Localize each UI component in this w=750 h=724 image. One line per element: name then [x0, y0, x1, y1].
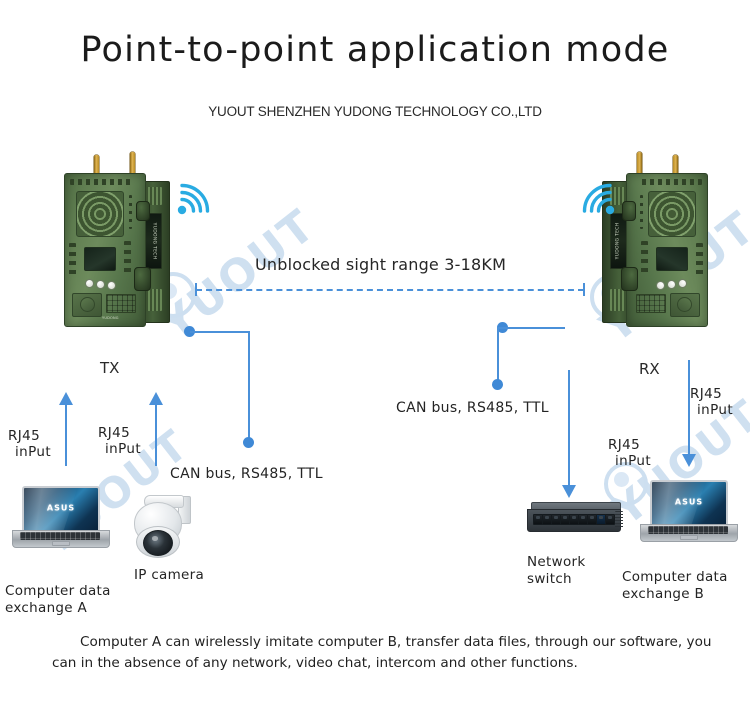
tx-bus-horizontal	[190, 331, 250, 333]
laptop-a-touchpad	[52, 541, 70, 546]
tx-button-1[interactable]	[85, 279, 94, 288]
company-subtitle: YUOUT SHENZHEN YUDONG TECHNOLOGY CO.,LTD	[0, 104, 750, 119]
laptop-a-caption-line1: Computer data	[5, 583, 111, 600]
rx-speaker-grille	[648, 191, 696, 237]
tx-label: TX	[100, 359, 119, 377]
switch-port-9[interactable]	[605, 514, 615, 525]
rj45-switch-line	[568, 370, 570, 486]
page-title: Point-to-point application mode	[0, 30, 750, 70]
rx-right-slots	[641, 241, 648, 277]
tx-lcd-display	[84, 247, 116, 271]
rj45-laptop-label-line1: RJ45	[690, 386, 722, 402]
rx-bus-end-dot	[492, 379, 503, 390]
rx-led-column	[640, 195, 643, 229]
rx-button-2[interactable]	[667, 280, 676, 289]
rx-connector-knob-2	[621, 267, 638, 291]
laptop-a-caption: Computer data exchange A	[5, 583, 111, 617]
tx-button-3[interactable]	[107, 281, 116, 290]
laptop-b[interactable]: ASUS	[640, 480, 736, 542]
switch-vent	[615, 511, 623, 529]
rx-brand-text: YUDONG TECH	[616, 223, 621, 260]
diagram-canvas: Point-to-point application mode YUOUT SH…	[0, 0, 750, 724]
laptop-a-screen: ASUS	[22, 486, 100, 534]
rx-side-fins-bottom	[610, 289, 626, 311]
laptop-b-touchpad	[680, 535, 698, 540]
rj45-a-label: RJ45 inPut	[8, 428, 51, 461]
range-cap-left	[195, 283, 197, 296]
rj45-laptop-arrowhead	[682, 454, 696, 467]
rx-button-3[interactable]	[656, 281, 665, 290]
rx-bus-vertical	[497, 327, 499, 383]
rj45-b-arrowhead	[149, 392, 163, 405]
tx-right-slots	[124, 241, 131, 277]
rj45-b-label: RJ45 inPut	[98, 425, 141, 458]
tx-speaker-grille	[76, 191, 124, 237]
rj45-laptop-label-line2: inPut	[690, 402, 733, 418]
tx-bus-label: CAN bus, RS485, TTL	[170, 466, 323, 482]
rx-radio-device[interactable]: YUDONG TECH	[592, 155, 710, 333]
rj45-switch-label-line1: RJ45	[608, 437, 640, 453]
tx-led-column	[129, 195, 132, 229]
rx-power-badge	[677, 297, 692, 312]
camera-lens	[143, 530, 173, 556]
tx-bus-vertical	[248, 331, 250, 441]
laptop-a-brand: ASUS	[47, 504, 75, 513]
switch-caption-line1: Network	[527, 554, 585, 571]
switch-caption-line2: switch	[527, 571, 585, 588]
ip-camera[interactable]	[126, 488, 198, 558]
rj45-switch-label: RJ45 inPut	[608, 437, 651, 470]
tx-model-text: YUDONG	[102, 316, 119, 320]
rj45-b-label-line1: RJ45	[98, 425, 130, 441]
rx-button-1[interactable]	[678, 279, 687, 288]
laptop-b-brand: ASUS	[675, 498, 703, 507]
rx-left-slots	[696, 243, 703, 277]
rx-bus-label: CAN bus, RS485, TTL	[396, 400, 549, 416]
laptop-a-keyboard	[20, 532, 100, 540]
switch-caption: Network switch	[527, 554, 585, 588]
laptop-a[interactable]: ASUS	[12, 486, 108, 548]
rx-brand-plate: YUDONG TECH	[610, 213, 627, 269]
tx-connector-knob-2	[134, 267, 151, 291]
tx-button-2[interactable]	[96, 280, 105, 289]
rx-lcd-display	[656, 247, 688, 271]
laptop-b-caption-line1: Computer data	[622, 569, 728, 586]
tx-top-slots	[70, 179, 132, 185]
rj45-a-label-line1: RJ45	[8, 428, 40, 444]
range-label: Unblocked sight range 3-18KM	[255, 255, 506, 274]
tx-brand-plate: YUDONG TECH	[145, 213, 162, 269]
rx-terminal-block	[636, 294, 666, 313]
rj45-a-label-line2: inPut	[8, 444, 51, 460]
rj45-switch-arrowhead	[562, 485, 576, 498]
rx-wifi-icon	[576, 183, 616, 221]
watermark-dot-bottom-right	[614, 472, 629, 487]
rj45-a-line	[65, 404, 67, 466]
tx-terminal-block	[106, 294, 136, 313]
tx-power-badge	[80, 297, 95, 312]
rx-connector-knob	[622, 201, 636, 221]
laptop-b-caption-line2: exchange B	[622, 586, 728, 603]
range-cap-right	[583, 283, 585, 296]
laptop-b-caption: Computer data exchange B	[622, 569, 728, 603]
tx-bus-end-dot	[243, 437, 254, 448]
rx-label: RX	[639, 360, 660, 378]
tx-wifi-icon	[176, 183, 216, 221]
footer-note: Computer A can wirelessly imitate comput…	[52, 632, 714, 673]
camera-caption: IP camera	[134, 567, 204, 584]
tx-side-fins-bottom	[146, 289, 162, 311]
rj45-switch-label-line2: inPut	[608, 453, 651, 469]
network-switch[interactable]	[527, 502, 623, 542]
tx-radio-device[interactable]: YUDONG TECH YUDONG	[62, 155, 180, 333]
tx-connector-knob	[136, 201, 150, 221]
rj45-b-line	[155, 404, 157, 466]
rj45-b-label-line2: inPut	[98, 441, 141, 457]
rj45-a-arrowhead	[59, 392, 73, 405]
laptop-b-keyboard	[648, 526, 728, 534]
rx-top-slots	[640, 179, 702, 185]
rj45-laptop-label: RJ45 inPut	[690, 386, 733, 419]
laptop-a-caption-line2: exchange A	[5, 600, 111, 617]
tx-brand-text: YUDONG TECH	[151, 223, 156, 260]
range-dashed-line	[196, 289, 584, 291]
laptop-b-screen: ASUS	[650, 480, 728, 528]
tx-left-slots	[69, 243, 76, 277]
rx-bus-horizontal	[497, 327, 565, 329]
